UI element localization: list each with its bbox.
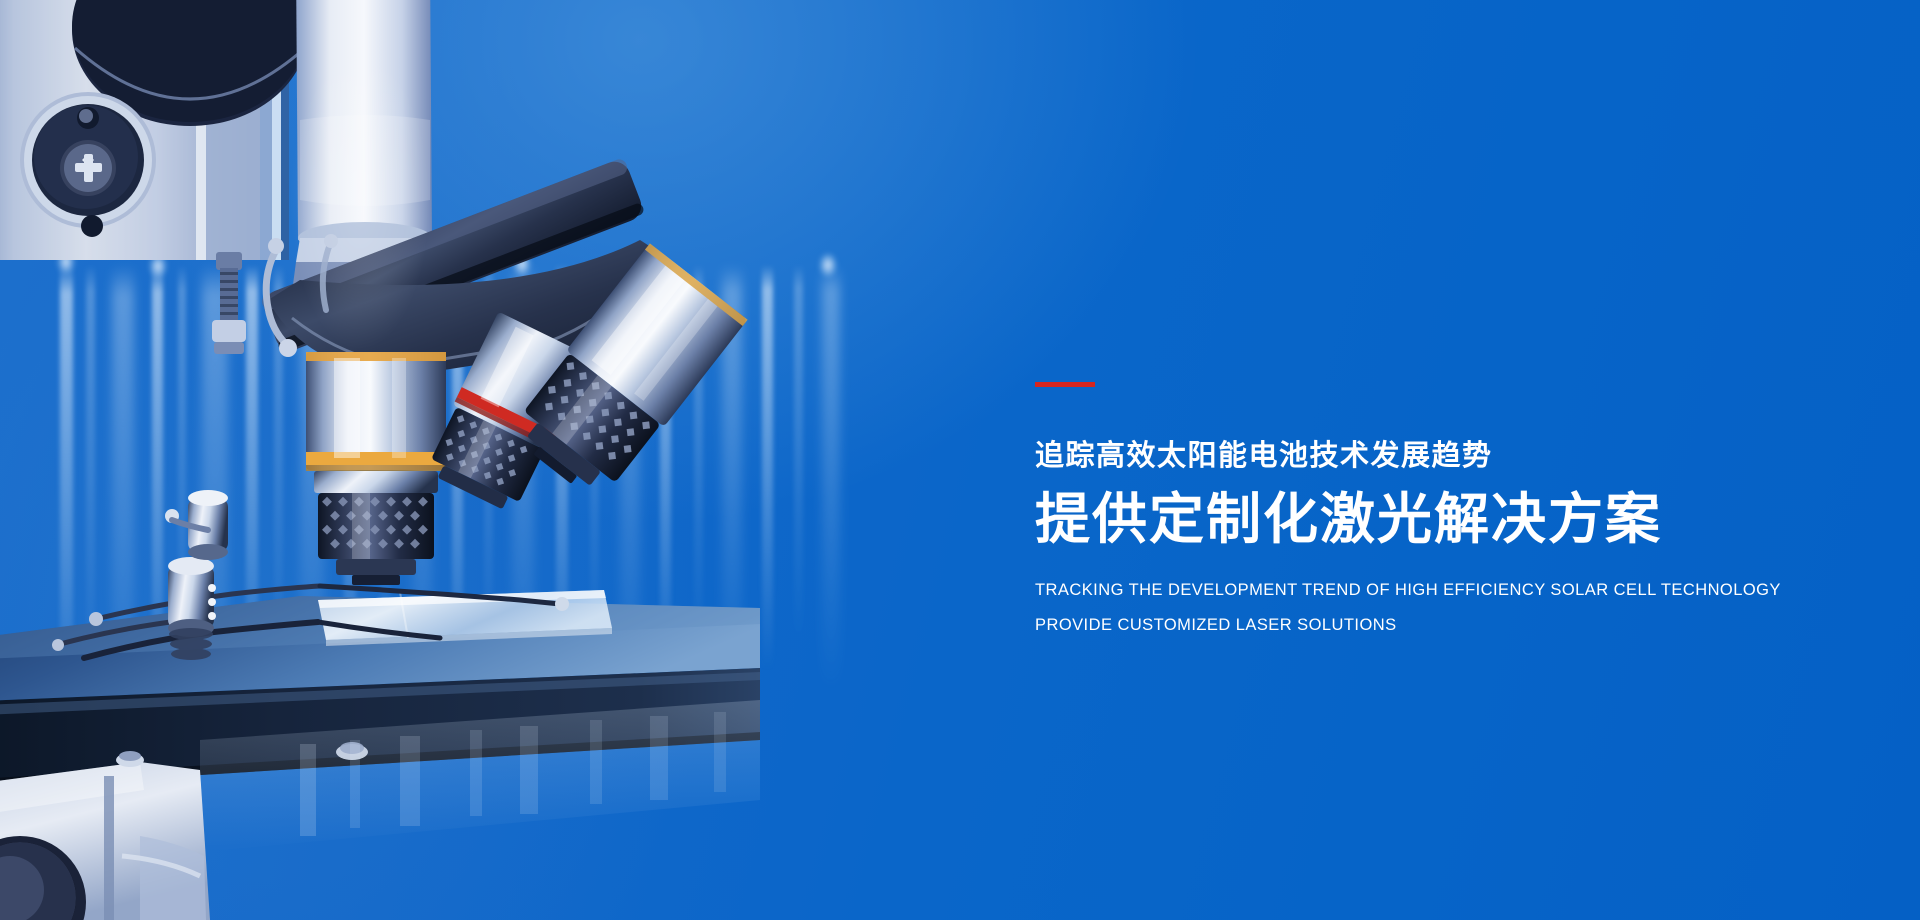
subtitle-line-2: PROVIDE CUSTOMIZED LASER SOLUTIONS <box>1035 617 1855 634</box>
headline-secondary: 提供定制化激光解决方案 <box>1035 489 1855 551</box>
microscope-photo <box>0 0 760 920</box>
hero-banner: 追踪高效太阳能电池技术发展趋势 提供定制化激光解决方案 TRACKING THE… <box>0 0 1920 920</box>
headline-primary: 追踪高效太阳能电池技术发展趋势 <box>1035 439 1855 472</box>
red-accent-rule <box>1035 382 1095 387</box>
subtitle-line-1: TRACKING THE DEVELOPMENT TREND OF HIGH E… <box>1035 582 1855 599</box>
hero-text-block: 追踪高效太阳能电池技术发展趋势 提供定制化激光解决方案 TRACKING THE… <box>1035 382 1855 635</box>
